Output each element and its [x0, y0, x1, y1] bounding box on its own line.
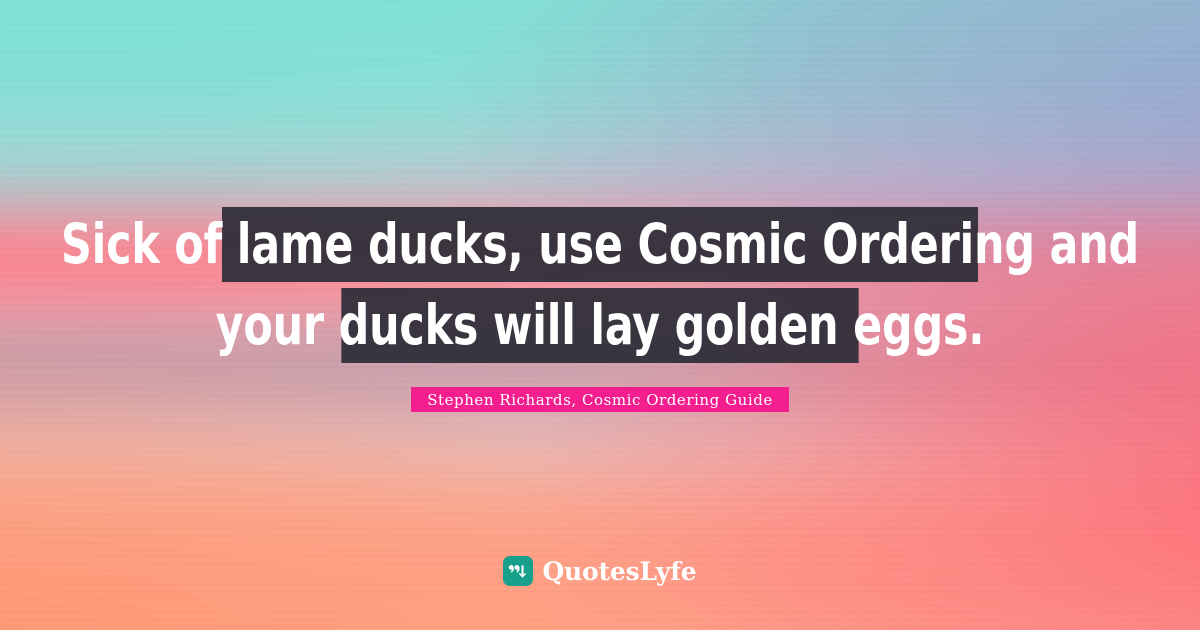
attribution-badge: Stephen Richards, Cosmic Ordering Guide: [411, 387, 789, 412]
quote-line-2: your ducks will lay golden eggs.: [341, 288, 858, 363]
quote-line-1: Sick of lame ducks, use Cosmic Ordering …: [222, 207, 978, 282]
brand-footer[interactable]: QuotesLyfe: [0, 556, 1200, 586]
attribution-text: Stephen Richards, Cosmic Ordering Guide: [427, 391, 773, 409]
quote-card: Sick of lame ducks, use Cosmic Ordering …: [0, 0, 1200, 630]
card-content: Sick of lame ducks, use Cosmic Ordering …: [0, 0, 1200, 630]
quote-mark-icon: [503, 556, 533, 586]
brand-name: QuotesLyfe: [542, 559, 696, 584]
